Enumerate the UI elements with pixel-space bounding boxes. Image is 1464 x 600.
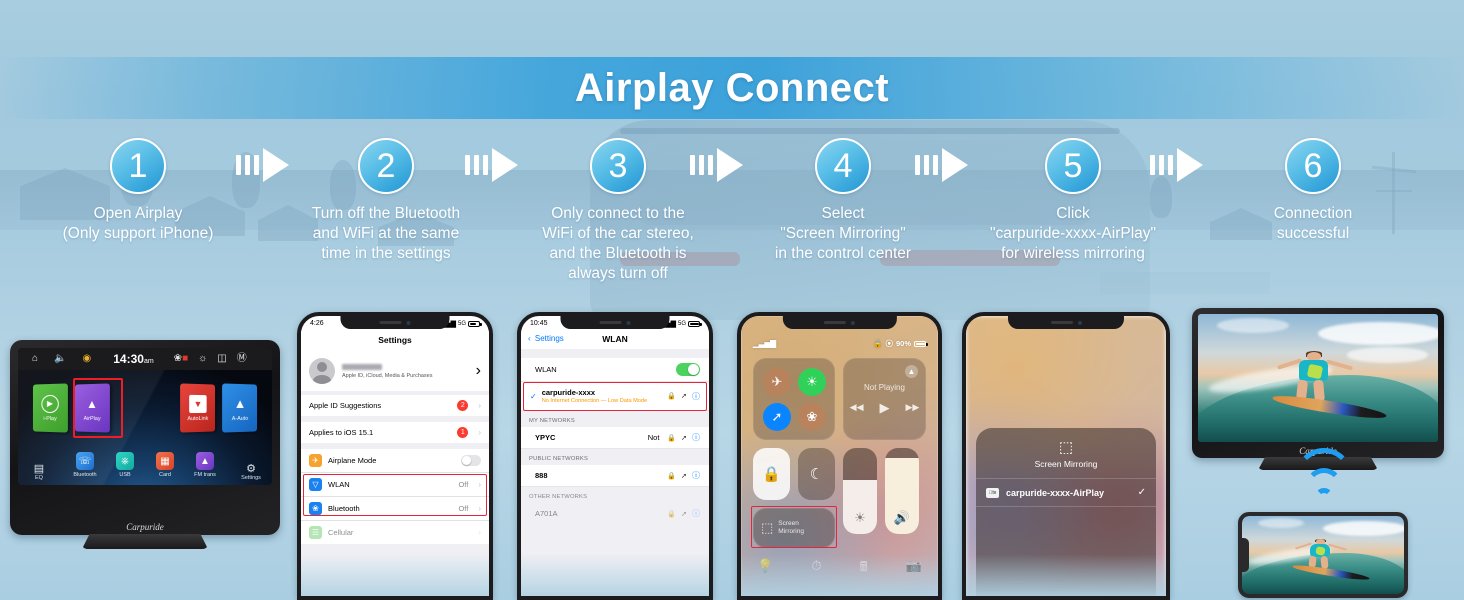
phone-notch (340, 316, 449, 329)
ios-update-group: Applies to iOS 15.1 1 › (301, 422, 489, 443)
settings-list: Settings Apple ID, iCloud, Media & Purch… (301, 331, 489, 600)
page-title: Airplay Connect (575, 66, 889, 111)
apple-id-suggestions-group: Apple ID Suggestions 2 › (301, 395, 489, 416)
airplay-device-item[interactable]: tv carpuride-xxxx-AirPlay ✓ (976, 478, 1156, 507)
equalizer-icon: ▤ (22, 462, 56, 475)
row-network-888[interactable]: 888 🔒 ➚ ⓘ (521, 465, 709, 487)
row-label: WLAN (535, 365, 557, 374)
wifi-icon: ▽ (309, 478, 322, 491)
connectivity-group: ✈ Airplane Mode ▽ WLAN Off › ❀ Bluetooth… (301, 449, 489, 545)
autolink-icon: ▼ (189, 394, 206, 412)
network-icons: 🔒 ➚ ⓘ (667, 508, 700, 519)
nav-title: WLAN (521, 334, 709, 344)
volume-icon: 🔊 (885, 510, 919, 526)
surfer-arm-left (1277, 358, 1302, 369)
dock-item-label: Bluetooth (70, 472, 100, 478)
control-center-shortcuts: 💡 ⏱ 🖩 📷 (757, 558, 922, 580)
stereo-eq-button[interactable]: ▤ EQ (22, 462, 56, 481)
control-center-grid: ✈ ☀ ➚ ❀ ▲ Not Playing ◀◀ ▶ ▶▶ (753, 358, 926, 548)
speaker-grille (380, 321, 402, 324)
step-number-badge: 6 (1285, 138, 1341, 194)
phone-wlan: 10:45 ▁▃▅▇ 5G ‹ Settings WLAN WLAN ✓ ca (517, 312, 713, 600)
step-2: 2 Turn off the Bluetooth and WiFi at the… (288, 138, 484, 264)
brightness-icon: ☀ (843, 510, 877, 526)
wlan-nav-bar: ‹ Settings WLAN (521, 331, 709, 349)
screen-mirroring-icon: ⬚ (976, 438, 1156, 456)
stereo-stand (82, 534, 208, 549)
appletv-icon: tv (986, 488, 999, 498)
front-camera (407, 321, 411, 325)
battery-icon[interactable]: ◫ (217, 354, 226, 364)
surfer-arm-right (1326, 359, 1353, 370)
chevron-right-icon: › (478, 504, 481, 513)
wifi-icon: ➚ (681, 472, 687, 480)
stereo-eq-label: EQ (22, 475, 56, 481)
step-number-badge: 5 (1045, 138, 1101, 194)
control-center-status-bar: ▁▃▅▇ 🔒 ⦿ 90% (741, 338, 938, 349)
wifi-icon: ➚ (681, 392, 687, 400)
stereo-app-tiles-right: ▼ AutoLink ▲ A-Auto (180, 384, 258, 432)
row-network-ypyc[interactable]: YPYC Not 🔒 ➚ ⓘ (521, 427, 709, 449)
stereo-time: 14:30 (113, 352, 144, 366)
speaker-grille (1051, 321, 1073, 324)
title-banner: Airplay Connect (0, 57, 1464, 119)
battery-icon (914, 341, 926, 347)
camera-icon[interactable]: 📷 (906, 558, 922, 580)
network-label: 5G (458, 321, 466, 327)
stereo-settings-label: Settings (234, 475, 268, 481)
step-number: 6 (1304, 149, 1323, 183)
phone-notch (1008, 316, 1124, 329)
check-icon: ✓ (1138, 487, 1146, 498)
cellular-data-icon[interactable]: ☀ (798, 368, 826, 396)
sdcard-icon: ▦ (156, 452, 174, 470)
row-cellular[interactable]: ☰ Cellular › (301, 521, 489, 545)
info-icon[interactable]: ⓘ (692, 508, 700, 519)
info-icon[interactable]: ⓘ (692, 432, 700, 443)
network-icons: 🔒 ➚ ⓘ (667, 391, 700, 402)
stereo-ampm: am (144, 358, 154, 365)
app-tile-aauto[interactable]: ▲ A-Auto (222, 383, 257, 432)
app-tile-iplay[interactable]: ▶ i-Play (33, 383, 68, 432)
section-header-my-networks: MY NETWORKS (521, 411, 709, 427)
stereo-clock: 14:30am (113, 352, 153, 366)
airplane-icon: ✈ (309, 454, 322, 467)
phone-mirrored-content (1238, 512, 1408, 598)
row-label: YPYC (535, 433, 555, 442)
previous-button[interactable]: ◀◀ (850, 402, 864, 413)
step-number-badge: 1 (110, 138, 166, 194)
status-badge: 1 (457, 427, 468, 438)
car-stereo-mirroring-result: Carpuride (1192, 308, 1444, 458)
wifi-signal-icon (1288, 470, 1360, 510)
stereo-status-bar: ⌂ 🔈 ◉ 14:30am ❀■ ☼ ◫ Ⓜ (18, 348, 272, 370)
step-number: 5 (1064, 149, 1083, 183)
info-icon[interactable]: ⓘ (692, 391, 700, 402)
usb-icon: ⎈ (116, 452, 134, 470)
cloud (1347, 347, 1429, 362)
calculator-icon[interactable]: 🖩 (860, 558, 868, 580)
gear-icon: ⚙ (234, 462, 268, 475)
info-icon[interactable]: ⓘ (692, 470, 700, 481)
step-number-badge: 3 (590, 138, 646, 194)
dock-item-label: USB (110, 472, 140, 478)
tv-bezel: Carpuride (1192, 308, 1444, 458)
step-1: 1 Open Airplay (Only support iPhone) (40, 138, 236, 244)
row-bluetooth[interactable]: ❀ Bluetooth Off › (301, 497, 489, 521)
screen-mirroring-label: Screen Mirroring (778, 520, 804, 536)
speaker-grille (824, 321, 846, 324)
step-number-badge: 4 (815, 138, 871, 194)
step-4: 4 Select "Screen Mirroring" in the contr… (745, 138, 941, 264)
cloud (1323, 521, 1404, 537)
front-camera (851, 321, 855, 325)
timer-icon[interactable]: ⏱ (811, 558, 821, 580)
stereo-screen: ⌂ 🔈 ◉ 14:30am ❀■ ☼ ◫ Ⓜ ▶ (18, 348, 272, 485)
sheet-title: Screen Mirroring (976, 459, 1156, 478)
dock-item-fmtrans[interactable]: ▲ FM trans (190, 452, 220, 478)
car-stereo-device: ⌂ 🔈 ◉ 14:30am ❀■ ☼ ◫ Ⓜ ▶ (10, 340, 280, 535)
dock-item-card[interactable]: ▦ Card (150, 452, 180, 478)
airplay-icon[interactable]: ▲ (905, 365, 918, 378)
account-name-blurred (342, 364, 382, 370)
row-value: Not (648, 433, 660, 442)
screen-mirroring-button[interactable]: ⬚ Screen Mirroring (753, 508, 835, 548)
airplane-mode-toggle[interactable] (461, 455, 481, 466)
row-label: WLAN (328, 480, 350, 489)
bluetooth-phone-icon: ☏ (76, 452, 94, 470)
volume-slider[interactable]: 🔊 (885, 448, 919, 534)
cellular-icon: ☰ (309, 526, 322, 539)
row-label: A701A (535, 509, 558, 518)
brightness-slider[interactable]: ☀ (843, 448, 877, 534)
lock-icon: 🔒 (667, 510, 676, 518)
status-time: 4:26 (310, 320, 324, 327)
cloud (1258, 518, 1303, 528)
step-number: 1 (129, 149, 148, 183)
account-subtitle: Apple ID, iCloud, Media & Purchases (342, 373, 469, 379)
device-name: carpuride-xxxx-AirPlay (1006, 488, 1104, 498)
row-wlan[interactable]: ▽ WLAN Off › (301, 473, 489, 497)
battery-percent: 90% (896, 339, 911, 348)
row-connected-network[interactable]: ✓ carpuride-xxxx No Internet Connection … (521, 382, 709, 411)
next-button[interactable]: ▶▶ (906, 402, 920, 413)
chevron-right-icon: › (478, 401, 481, 410)
app-tile-label: AutoLink (187, 415, 208, 421)
phone-settings: 4:26 ▁▃▅▇ 5G Settings Apple ID, iCloud, … (297, 312, 493, 600)
wlan-list: WLAN ✓ carpuride-xxxx No Internet Connec… (521, 349, 709, 600)
front-camera (1078, 321, 1082, 325)
stereo-home-screen: ▶ i-Play ▲ AirPlay ▼ AutoLink (18, 370, 272, 485)
power-icon[interactable]: ◉ (83, 354, 92, 364)
app-tile-label: A-Auto (232, 415, 248, 421)
row-value: Off (458, 504, 468, 513)
phone-notch (782, 316, 896, 329)
connected-ssid: carpuride-xxxx (542, 388, 668, 397)
connectivity-tile: ✈ ☀ ➚ ❀ (753, 358, 835, 440)
now-playing-title: Not Playing (864, 383, 905, 392)
row-applies-to-ios[interactable]: Applies to iOS 15.1 1 › (301, 422, 489, 443)
row-label: Applies to iOS 15.1 (309, 428, 373, 437)
signal-icon: ▁▃▅▇ (753, 339, 776, 348)
network-icons: 🔒 ➚ ⓘ (667, 432, 700, 443)
dock-item-bluetooth[interactable]: ☏ Bluetooth (70, 452, 100, 478)
stereo-brand-logo: Carpuride (10, 522, 280, 532)
step-number: 4 (834, 149, 853, 183)
chevron-right-icon: › (478, 528, 481, 537)
surfer-photo (1198, 314, 1438, 442)
row-apple-id-suggestions[interactable]: Apple ID Suggestions 2 › (301, 395, 489, 416)
chevron-right-icon: › (476, 362, 481, 380)
settings-title: Settings (301, 331, 489, 351)
airplay-highlight-box (73, 378, 123, 438)
avatar (309, 358, 335, 384)
cloud (1217, 318, 1289, 333)
status-time: 10:45 (530, 320, 548, 327)
chevron-up-icon: ▲ (231, 394, 248, 412)
playback-controls: ◀◀ ▶ ▶▶ (850, 400, 920, 416)
step-caption: Open Airplay (Only support iPhone) (40, 204, 236, 244)
row-label: Apple ID Suggestions (309, 401, 381, 410)
brightness-icon[interactable]: ☼ (198, 354, 207, 364)
step-number: 2 (377, 149, 396, 183)
play-button[interactable]: ▶ (880, 400, 890, 416)
airplane-mode-icon[interactable]: ✈ (763, 368, 791, 396)
fm-antenna-icon: ▲ (196, 452, 214, 470)
apple-account-row[interactable]: Apple ID, iCloud, Media & Purchases › (301, 351, 489, 391)
battery-icon (688, 321, 700, 327)
lock-icon: 🔒 (873, 339, 882, 348)
battery-icon (468, 321, 480, 327)
dock-item-label: FM trans (190, 472, 220, 478)
wifi-icon[interactable]: ➚ (763, 403, 791, 431)
dock-item-label: Card (150, 472, 180, 478)
step-5: 5 Click "carpuride-xxxx-AirPlay" for wir… (968, 138, 1178, 264)
wlan-toggle[interactable] (676, 363, 700, 376)
bluetooth-icon: ❀ (309, 502, 322, 515)
row-label: 888 (535, 471, 548, 480)
step-caption: Click "carpuride-xxxx-AirPlay" for wirel… (968, 204, 1178, 264)
surfer-arm-right (1328, 543, 1346, 550)
network-label: 5G (678, 321, 686, 327)
row-network-a701a[interactable]: A701A 🔒 ➚ ⓘ (521, 503, 709, 524)
row-label: Cellular (328, 528, 353, 537)
phone-screen-mirroring: ⬚ Screen Mirroring tv carpuride-xxxx-Ai… (962, 312, 1170, 600)
chevron-right-icon: › (478, 428, 481, 437)
network-icons: 🔒 ➚ ⓘ (667, 470, 700, 481)
control-center-bottom-row: 🔒 ☾ ⬚ Screen Mirroring ☀ 🔊 (753, 448, 926, 548)
control-center-top-row: ✈ ☀ ➚ ❀ ▲ Not Playing ◀◀ ▶ ▶▶ (753, 358, 926, 440)
screen-mirroring-sheet: ⬚ Screen Mirroring tv carpuride-xxxx-Ai… (976, 428, 1156, 596)
step-caption: Select "Screen Mirroring" in the control… (745, 204, 941, 264)
app-tile-autolink[interactable]: ▼ AutoLink (180, 383, 215, 432)
now-playing-tile: ▲ Not Playing ◀◀ ▶ ▶▶ (843, 358, 926, 440)
play-circle-icon: ▶ (41, 394, 58, 412)
step-6: 6 Connection successful (1218, 138, 1408, 244)
steps-row: 1 Open Airplay (Only support iPhone) 2 T… (0, 130, 1464, 300)
rotation-lock-button[interactable]: 🔒 (753, 448, 790, 500)
speaker-grille (600, 321, 622, 324)
phone-notch (560, 316, 669, 329)
step-number: 3 (609, 149, 628, 183)
status-right: 🔒 ⦿ 90% (873, 338, 926, 349)
row-label: Bluetooth (328, 504, 360, 513)
app-tile-label: i-Play (43, 415, 56, 421)
account-group: Apple ID, iCloud, Media & Purchases › (301, 351, 489, 391)
screen-mirroring-icon: ⬚ (761, 520, 773, 536)
arrow-icon (1150, 148, 1216, 182)
flashlight-icon[interactable]: 💡 (757, 558, 773, 580)
step-3: 3 Only connect to the WiFi of the car st… (520, 138, 716, 284)
step-caption: Turn off the Bluetooth and WiFi at the s… (288, 204, 484, 264)
home-icon[interactable]: ⌂ (32, 354, 38, 364)
stereo-settings-button[interactable]: ⚙ Settings (234, 462, 268, 481)
front-camera (627, 321, 631, 325)
row-label: Airplane Mode (328, 456, 376, 465)
stereo-bezel: ⌂ 🔈 ◉ 14:30am ❀■ ☼ ◫ Ⓜ ▶ (10, 340, 280, 535)
volume-icon[interactable]: 🔈 (54, 354, 66, 364)
wifi-icon: ➚ (681, 434, 687, 442)
row-airplane-mode[interactable]: ✈ Airplane Mode (301, 449, 489, 473)
chevron-right-icon: › (478, 480, 481, 489)
lock-icon: 🔒 (667, 472, 676, 480)
devices-row: ⌂ 🔈 ◉ 14:30am ❀■ ☼ ◫ Ⓜ ▶ (0, 300, 1464, 600)
section-header-public-networks: PUBLIC NETWORKS (521, 449, 709, 465)
connected-subtitle: No Internet Connection — Low Data Mode (542, 398, 668, 404)
step-caption: Connection successful (1218, 204, 1408, 244)
cloud (1318, 322, 1438, 345)
phone-notch (1242, 538, 1249, 572)
bluetooth-icon[interactable]: ❀■ (174, 354, 188, 364)
section-header-other-networks: OTHER NETWORKS (521, 487, 709, 503)
lock-icon: 🔒 (667, 392, 676, 400)
dock-item-usb[interactable]: ⎈ USB (110, 452, 140, 478)
phone-control-center: ▁▃▅▇ 🔒 ⦿ 90% ✈ ☀ ➚ ❀ ▲ Not Playing (737, 312, 942, 600)
lock-icon: 🔒 (667, 434, 676, 442)
row-wlan-toggle[interactable]: WLAN (521, 358, 709, 382)
wifi-icon: ➚ (681, 510, 687, 518)
step-number-badge: 2 (358, 138, 414, 194)
location-icon: ⦿ (885, 338, 893, 349)
bluetooth-off-icon[interactable]: ❀ (798, 403, 826, 431)
row-value: Off (458, 480, 468, 489)
status-badge: 2 (457, 400, 468, 411)
do-not-disturb-button[interactable]: ☾ (798, 448, 835, 500)
check-icon: ✓ (530, 392, 537, 401)
step-caption: Only connect to the WiFi of the car ster… (520, 204, 716, 284)
surfer-photo (1242, 516, 1404, 594)
car-icon[interactable]: Ⓜ (237, 354, 247, 364)
